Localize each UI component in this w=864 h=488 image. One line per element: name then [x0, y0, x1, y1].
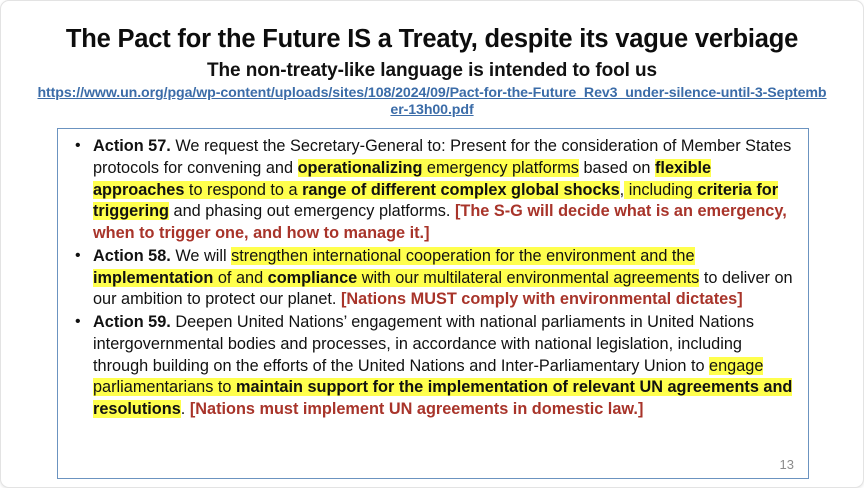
page-number: 13 — [780, 457, 794, 472]
highlighted-text: implementation — [93, 269, 213, 287]
list-item: Action 58. We will strengthen internatio… — [68, 246, 798, 311]
content-box: Action 57. We request the Secretary-Gene… — [57, 128, 809, 479]
highlighted-text: to respond to a — [184, 181, 302, 199]
highlighted-text: range of different complex global shocks — [302, 181, 620, 199]
body-text: Deepen United Nations’ engagement with n… — [93, 313, 754, 375]
list-item: Action 57. We request the Secretary-Gene… — [68, 136, 798, 245]
page-title: The Pact for the Future IS a Treaty, des… — [19, 25, 845, 54]
highlighted-text: including — [624, 181, 697, 199]
highlighted-text: with our multilateral environmental agre… — [357, 269, 699, 287]
source-url-link[interactable]: https://www.un.org/pga/wp-content/upload… — [37, 85, 827, 119]
title-block: The Pact for the Future IS a Treaty, des… — [1, 1, 863, 119]
body-text: We will — [171, 247, 231, 265]
action-label: Action 57. — [93, 137, 171, 155]
commentary-text: [Nations MUST comply with environmental … — [341, 290, 743, 308]
highlighted-text: strengthen international cooperation for… — [231, 247, 694, 265]
bullet-list: Action 57. We request the Secretary-Gene… — [68, 136, 798, 421]
body-text: based on — [579, 159, 655, 177]
highlighted-text: of and — [213, 269, 267, 287]
slide-canvas: The Pact for the Future IS a Treaty, des… — [0, 0, 864, 488]
list-item: Action 59. Deepen United Nations’ engage… — [68, 312, 798, 421]
action-label: Action 58. — [93, 247, 171, 265]
highlighted-text: emergency platforms — [422, 159, 579, 177]
body-text: and phasing out emergency platforms. — [169, 202, 455, 220]
commentary-text: [Nations must implement UN agreements in… — [190, 400, 644, 418]
highlighted-text: compliance — [268, 269, 358, 287]
body-text: . — [181, 400, 190, 418]
highlighted-text: operationalizing — [298, 159, 423, 177]
action-label: Action 59. — [93, 313, 171, 331]
page-subtitle: The non-treaty-like language is intended… — [19, 60, 845, 82]
